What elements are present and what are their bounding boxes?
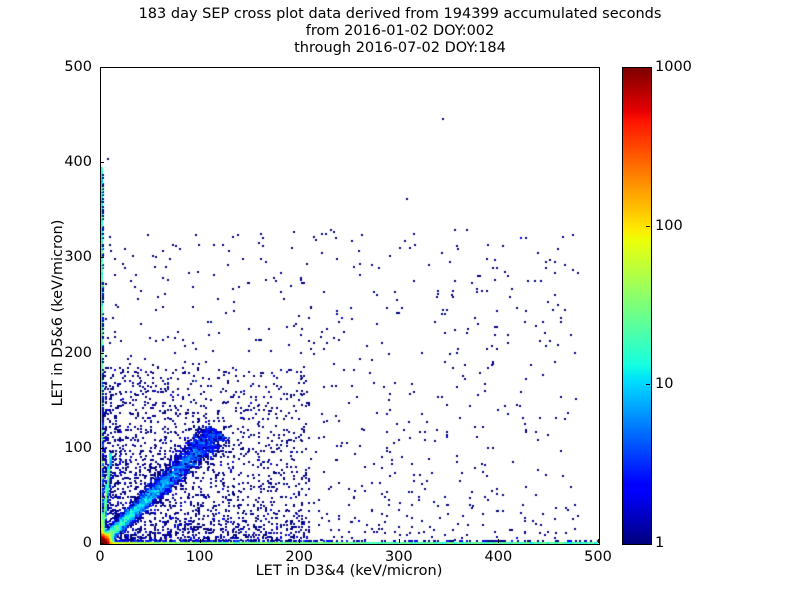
colorbar-tick-mark <box>646 226 650 227</box>
figure-canvas: 183 day SEP cross plot data derived from… <box>0 0 800 600</box>
y-tick-label: 500 <box>42 59 92 75</box>
colorbar-tick-mark <box>646 384 650 385</box>
x-tick-mark <box>200 539 201 543</box>
title-line-3: through 2016-07-02 DOY:184 <box>0 40 800 57</box>
y-tick-mark <box>100 448 104 449</box>
x-tick-mark <box>598 539 599 543</box>
y-tick-mark <box>100 162 104 163</box>
y-tick-mark <box>100 353 104 354</box>
y-axis-label: LET in D5&6 (keV/micron) <box>50 75 66 551</box>
x-tick-mark <box>299 539 300 543</box>
y-tick-mark <box>100 257 104 258</box>
colorbar-tick-label: 10 <box>655 376 673 392</box>
colorbar-tick-label: 100 <box>655 218 683 234</box>
x-tick-mark <box>399 539 400 543</box>
colorbar <box>622 67 652 545</box>
x-tick-mark <box>498 539 499 543</box>
colorbar-tick-label: 1000 <box>655 59 692 75</box>
scatter-points-layer <box>101 68 599 544</box>
y-tick-mark <box>100 67 104 68</box>
title-line-2: from 2016-01-02 DOY:002 <box>0 23 800 40</box>
title-line-1: 183 day SEP cross plot data derived from… <box>0 6 800 23</box>
plot-title: 183 day SEP cross plot data derived from… <box>0 6 800 57</box>
colorbar-gradient <box>623 68 651 544</box>
scatter-plot-area <box>100 67 600 545</box>
colorbar-tick-label: 1 <box>655 535 664 551</box>
y-tick-mark <box>100 543 104 544</box>
x-axis-label: LET in D3&4 (keV/micron) <box>100 563 598 579</box>
